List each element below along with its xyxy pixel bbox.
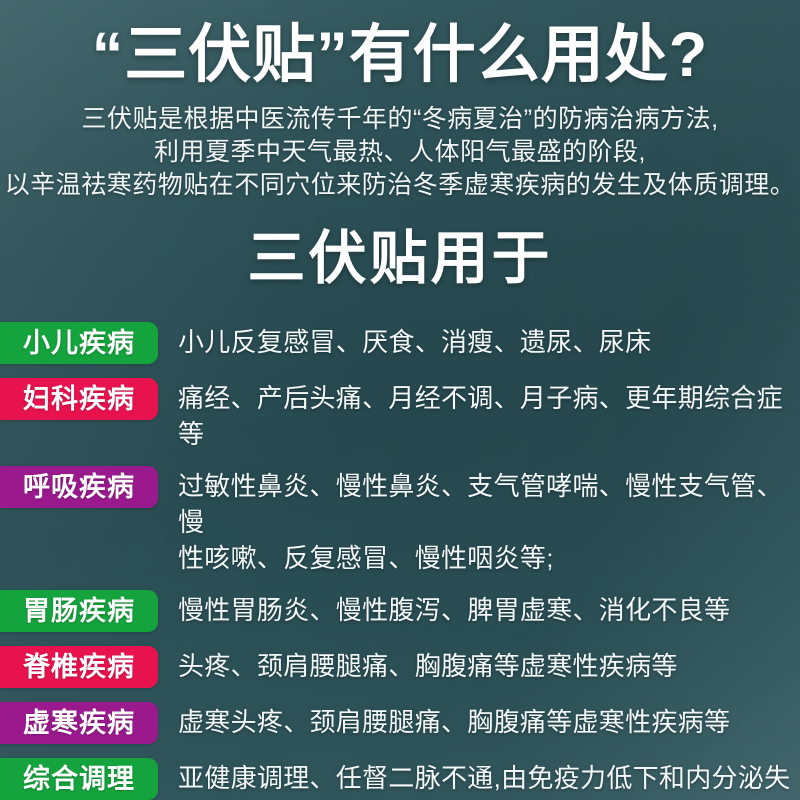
list-item: 妇科疾病 痛经、产后头痛、月经不调、月子病、更年期综合症等	[0, 378, 800, 452]
category-tag-gynecological: 妇科疾病	[0, 378, 158, 420]
list-item: 脊椎疾病 头疼、颈肩腰腿痛、胸腹痛等虚寒性疾病等	[0, 646, 800, 688]
list-item: 虚寒疾病 虚寒头疼、颈肩腰腿痛、胸腹痛等虚寒性疾病等	[0, 702, 800, 744]
list-item-description: 虚寒头疼、颈肩腰腿痛、胸腹痛等虚寒性疾病等	[178, 704, 800, 740]
subtitle-line-3: 以辛温祛寒药物贴在不同穴位来防治冬季虚寒疾病的发生及体质调理。	[0, 169, 800, 202]
category-tag-deficiency-cold: 虚寒疾病	[0, 702, 158, 744]
list-item-description: 慢性胃肠炎、慢性腹泻、脾胃虚寒、消化不良等	[178, 592, 800, 628]
list-item-description: 过敏性鼻炎、慢性鼻炎、支气管哮喘、慢性支气管、慢 性咳嗽、反复感冒、慢性咽炎等;	[178, 468, 800, 576]
list-item-description: 头疼、颈肩腰腿痛、胸腹痛等虚寒性疾病等	[178, 648, 800, 684]
category-tag-gastrointestinal: 胃肠疾病	[0, 590, 158, 632]
list-item: 呼吸疾病 过敏性鼻炎、慢性鼻炎、支气管哮喘、慢性支气管、慢 性咳嗽、反复感冒、慢…	[0, 466, 800, 576]
subtitle-block: 三伏贴是根据中医流传千年的“冬病夏治”的防病治病方法, 利用夏季中天气最热、人体…	[0, 103, 800, 202]
section-heading: 三伏贴用于	[0, 230, 800, 288]
list-item: 胃肠疾病 慢性胃肠炎、慢性腹泻、脾胃虚寒、消化不良等	[0, 590, 800, 632]
category-tag-pediatric: 小儿疾病	[0, 322, 158, 364]
list-item: 综合调理 亚健康调理、任督二脉不通,由免疫力低下和内分泌失 调所致的各种疾病!!…	[0, 758, 800, 800]
subtitle-line-2: 利用夏季中天气最热、人体阳气最盛的阶段,	[0, 136, 800, 169]
promo-poster: “三伏贴”有什么用处? 三伏贴是根据中医流传千年的“冬病夏治”的防病治病方法, …	[0, 0, 800, 800]
list-item-description: 痛经、产后头痛、月经不调、月子病、更年期综合症等	[178, 380, 800, 452]
list-item-description: 小儿反复感冒、厌食、消瘦、遗尿、尿床	[178, 324, 800, 360]
list-item: 小儿疾病 小儿反复感冒、厌食、消瘦、遗尿、尿床	[0, 322, 800, 364]
category-tag-general-conditioning: 综合调理	[0, 758, 158, 800]
page-title: “三伏贴”有什么用处?	[0, 0, 800, 87]
category-tag-spinal: 脊椎疾病	[0, 646, 158, 688]
subtitle-line-1: 三伏贴是根据中医流传千年的“冬病夏治”的防病治病方法,	[0, 103, 800, 136]
category-tag-respiratory: 呼吸疾病	[0, 466, 158, 508]
indication-list: 小儿疾病 小儿反复感冒、厌食、消瘦、遗尿、尿床 妇科疾病 痛经、产后头痛、月经不…	[0, 322, 800, 800]
list-item-description: 亚健康调理、任督二脉不通,由免疫力低下和内分泌失 调所致的各种疾病!!!	[178, 760, 800, 800]
